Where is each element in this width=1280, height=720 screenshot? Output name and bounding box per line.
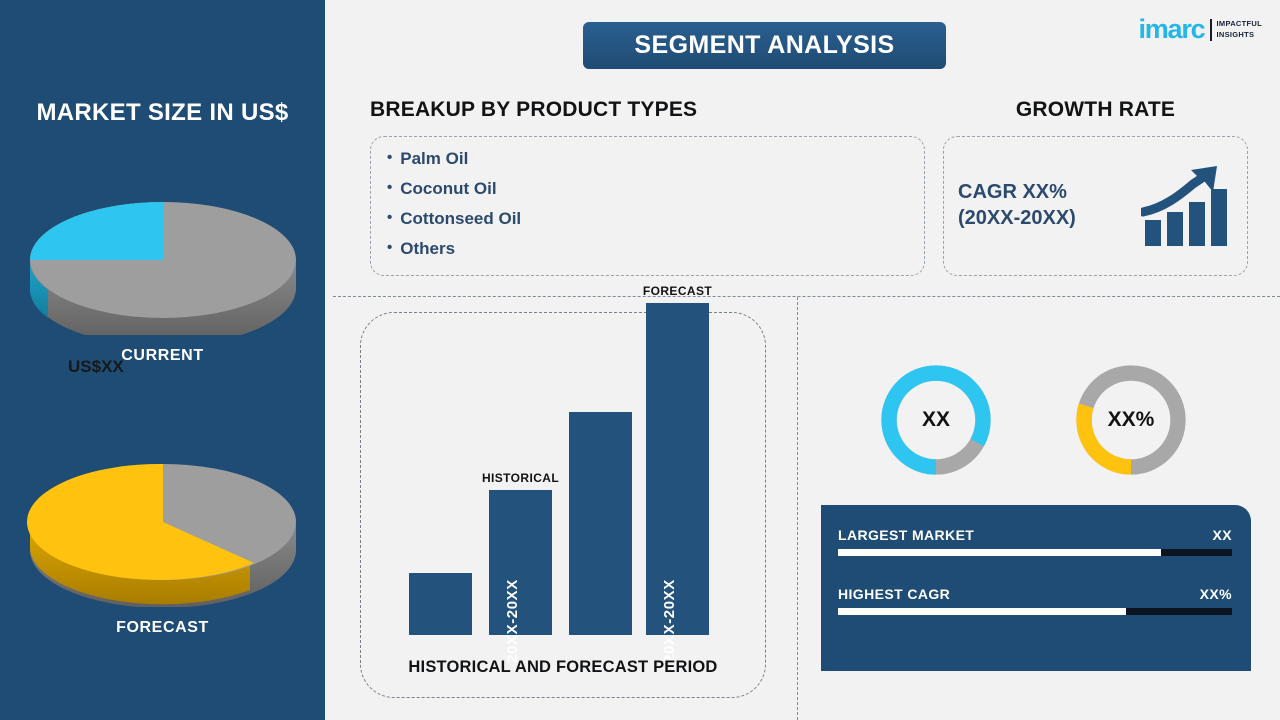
bar-0 — [409, 573, 472, 635]
breakup-item-0: • Palm Oil — [387, 150, 924, 167]
cagr-line2: (20XX-20XX) — [958, 206, 1141, 232]
page-title: SEGMENT ANALYSIS — [583, 22, 946, 69]
bar-inner-label-1: 20XX-20XX — [504, 579, 521, 663]
bullet-icon: • — [387, 240, 392, 257]
header: SEGMENT ANALYSIS imarc IMPACTFUL INSIGHT… — [325, 0, 1280, 92]
breakup-item-label: Cottonseed Oil — [400, 210, 521, 227]
bar-annotation-historical: HISTORICAL — [482, 471, 559, 485]
forecast-pie-chart: US$XX — [0, 432, 325, 607]
breakup-item-1: • Coconut Oil — [387, 180, 924, 197]
forecast-pie-svg — [13, 432, 313, 607]
stat-progress-track — [838, 549, 1232, 556]
logo-tagline: IMPACTFUL INSIGHTS — [1217, 19, 1262, 39]
page-title-text: SEGMENT ANALYSIS — [634, 31, 894, 60]
largest-market-donut: XX — [874, 358, 998, 482]
bullet-icon: • — [387, 150, 392, 167]
current-pie-caption: CURRENT — [0, 347, 325, 365]
logo-wordmark: imarc — [1138, 16, 1204, 43]
stat-row-largest-market: LARGEST MARKET XX — [838, 527, 1232, 556]
growth-rate-heading: GROWTH RATE — [943, 98, 1248, 122]
forecast-pie-caption: FORECAST — [0, 619, 325, 637]
stat-progress-fill — [838, 549, 1161, 556]
breakup-heading: BREAKUP BY PRODUCT TYPES — [370, 98, 925, 122]
stat-value: XX% — [1200, 586, 1232, 602]
market-size-sidebar: MARKET SIZE IN US$ U — [0, 0, 325, 720]
current-pie-svg — [13, 160, 313, 335]
growth-rate-card: CAGR XX% (20XX-20XX) — [943, 136, 1248, 276]
breakup-section: BREAKUP BY PRODUCT TYPES • Palm Oil • Co… — [370, 98, 925, 276]
market-stats-panel: LARGEST MARKET XX HIGHEST CAGR XX% — [821, 505, 1251, 671]
breakup-card: • Palm Oil • Coconut Oil • Cottonseed Oi… — [370, 136, 925, 276]
bar-chart: HISTORICAL 20XX-20XX FORECAST 20XX-20XX … — [361, 313, 765, 697]
logo-divider — [1210, 19, 1212, 41]
growth-arrow-bars-icon — [1141, 164, 1233, 248]
bar-1: HISTORICAL 20XX-20XX — [489, 490, 552, 635]
sidebar-title: MARKET SIZE IN US$ — [0, 99, 325, 127]
current-pie-label: US$XX — [68, 357, 124, 377]
stat-progress-fill — [838, 608, 1126, 615]
forecast-pie-block: US$XX FORECAST — [0, 432, 325, 637]
vertical-divider — [797, 297, 798, 720]
stat-progress-track — [838, 608, 1232, 615]
breakup-item-label: Palm Oil — [400, 150, 468, 167]
breakup-item-label: Others — [400, 240, 455, 257]
stat-label: LARGEST MARKET — [838, 527, 974, 543]
stat-head: LARGEST MARKET XX — [838, 527, 1232, 543]
logo-tagline-line2: INSIGHTS — [1217, 30, 1262, 40]
imarc-logo: imarc IMPACTFUL INSIGHTS — [1138, 16, 1262, 43]
highest-cagr-donut-label: XX% — [1069, 358, 1193, 482]
historical-forecast-chart-panel: HISTORICAL 20XX-20XX FORECAST 20XX-20XX … — [360, 312, 766, 698]
stat-value: XX — [1213, 527, 1232, 543]
growth-rate-section: GROWTH RATE CAGR XX% (20XX-20XX) — [943, 98, 1248, 276]
bullet-icon: • — [387, 180, 392, 197]
highest-cagr-donut: XX% — [1069, 358, 1193, 482]
current-pie-block: US$XX CURRENT — [0, 160, 325, 365]
current-pie-chart: US$XX — [0, 160, 325, 335]
logo-tagline-line1: IMPACTFUL — [1217, 19, 1262, 29]
breakup-item-2: • Cottonseed Oil — [387, 210, 924, 227]
bar-inner-label-3: 20XX-20XX — [661, 579, 678, 663]
bar-2 — [569, 412, 632, 635]
stat-head: HIGHEST CAGR XX% — [838, 586, 1232, 602]
cagr-text: CAGR XX% (20XX-20XX) — [958, 180, 1141, 231]
stat-label: HIGHEST CAGR — [838, 586, 950, 602]
breakup-item-3: • Others — [387, 240, 924, 257]
horizontal-divider — [333, 296, 1280, 297]
cagr-line1: CAGR XX% — [958, 180, 1141, 206]
bar-annotation-forecast: FORECAST — [643, 284, 712, 298]
stat-row-highest-cagr: HIGHEST CAGR XX% — [838, 586, 1232, 615]
breakup-item-label: Coconut Oil — [400, 180, 496, 197]
bar-3: FORECAST 20XX-20XX — [646, 303, 709, 635]
bullet-icon: • — [387, 210, 392, 227]
largest-market-donut-label: XX — [874, 358, 998, 482]
chart-x-axis-label: HISTORICAL AND FORECAST PERIOD — [361, 658, 765, 677]
